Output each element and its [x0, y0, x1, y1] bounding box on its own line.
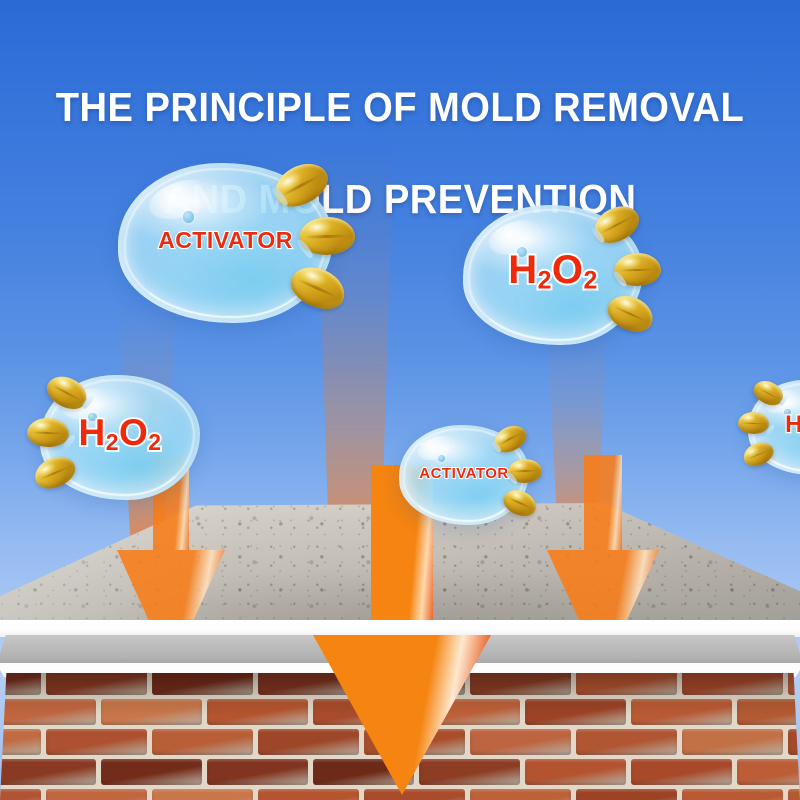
arrow-right-shaft: [584, 455, 622, 556]
brick: [0, 729, 41, 755]
brick: [152, 673, 253, 695]
bubble-label: H2O: [748, 411, 800, 439]
brick: [364, 789, 465, 800]
brick: [207, 759, 308, 785]
brick: [46, 729, 147, 755]
title-line-1: THE PRINCIPLE OF MOLD REMOVAL: [28, 84, 772, 130]
brick: [101, 699, 202, 725]
bubble-h2o2-large: H2O2: [463, 205, 643, 345]
brick: [470, 729, 571, 755]
brick: [576, 673, 677, 695]
brick: [737, 699, 800, 725]
brick: [788, 789, 800, 800]
brick: [207, 699, 308, 725]
brick: [0, 699, 96, 725]
brick: [576, 789, 677, 800]
bubble-label: ACTIVATOR: [118, 227, 333, 254]
brick: [46, 789, 147, 800]
brick: [152, 789, 253, 800]
brick: [631, 759, 732, 785]
brick: [631, 699, 732, 725]
brick: [737, 759, 800, 785]
brick: [470, 673, 571, 695]
brick: [682, 729, 783, 755]
bubble-h2o2-left: H2O2: [40, 375, 200, 500]
brick: [576, 729, 677, 755]
brick: [101, 759, 202, 785]
bubble-h2o2-edge-right: H2O: [748, 380, 800, 475]
bubble-label: H2O2: [40, 412, 200, 456]
brick: [258, 729, 359, 755]
brick: [419, 759, 520, 785]
bubble-label: H2O2: [463, 248, 643, 295]
brick: [152, 729, 253, 755]
bubble-activator-small: ACTIVATOR: [399, 425, 529, 525]
brick: [682, 789, 783, 800]
brick: [0, 789, 41, 800]
brick: [258, 789, 359, 800]
bubble-label: ACTIVATOR: [399, 465, 529, 482]
brick: [46, 673, 147, 695]
brick: [682, 673, 783, 695]
bubble-activator-large: ACTIVATOR: [118, 163, 333, 323]
infographic-canvas: THE PRINCIPLE OF MOLD REMOVAL AND MOLD P…: [0, 0, 800, 800]
bubble-inner-droplet: [183, 211, 195, 223]
brick: [0, 759, 96, 785]
brick: [470, 789, 571, 800]
brick: [525, 699, 626, 725]
white-board-top-layer: [0, 620, 800, 637]
brick: [525, 759, 626, 785]
